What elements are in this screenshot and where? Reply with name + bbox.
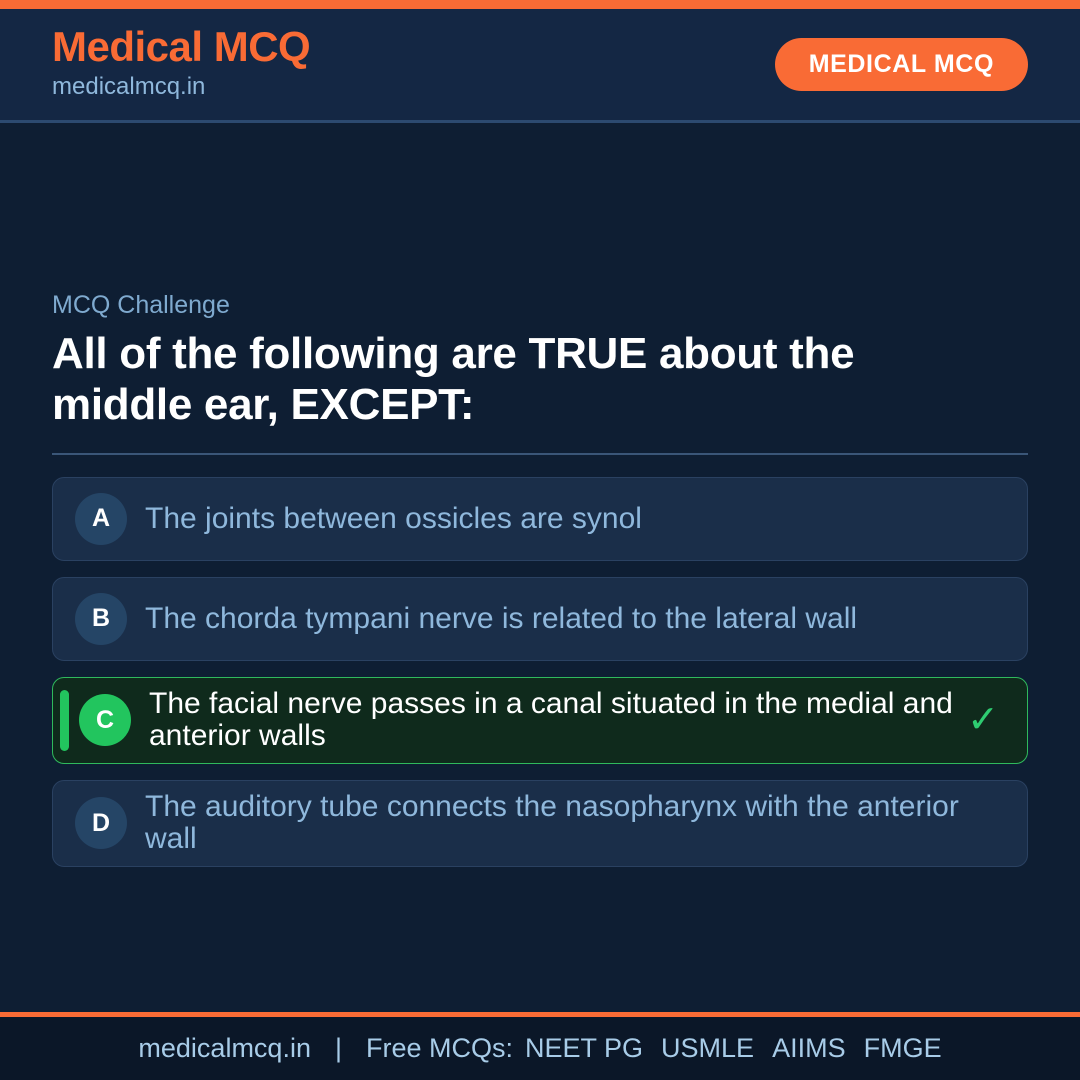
correct-accent-bar (60, 690, 69, 751)
footer-site-link[interactable]: medicalmcq.in (138, 1033, 311, 1064)
footer-label: Free MCQs: (366, 1033, 513, 1064)
main-content: MCQ Challenge All of the following are T… (0, 123, 1080, 1012)
option-letter-badge: B (75, 593, 127, 645)
option-text: The facial nerve passes in a canal situa… (149, 688, 961, 753)
option-c[interactable]: C The facial nerve passes in a canal sit… (52, 677, 1028, 764)
page-title: All of the following are TRUE about the … (52, 328, 952, 431)
option-a[interactable]: A The joints between ossicles are synol (52, 477, 1028, 561)
option-text: The joints between ossicles are synol (145, 503, 961, 535)
footer-exam-neet-pg[interactable]: NEET PG (525, 1033, 643, 1064)
brand-subtitle: medicalmcq.in (52, 71, 310, 102)
option-text: The chorda tympani nerve is related to t… (145, 603, 961, 635)
option-d[interactable]: D The auditory tube connects the nasopha… (52, 780, 1028, 867)
brand-block: Medical MCQ medicalmcq.in (52, 26, 310, 102)
page-footer: medicalmcq.in | Free MCQs: NEET PG USMLE… (0, 1012, 1080, 1080)
footer-content: medicalmcq.in | Free MCQs: NEET PG USMLE… (138, 1033, 941, 1064)
question-divider (52, 453, 1028, 455)
footer-exam-aiims[interactable]: AIIMS (772, 1033, 846, 1064)
option-text: The auditory tube connects the nasophary… (145, 791, 961, 856)
option-letter-badge: C (79, 694, 131, 746)
top-accent-bar (0, 0, 1080, 9)
eyebrow-label: MCQ Challenge (52, 290, 1028, 320)
footer-exam-list: NEET PG USMLE AIIMS FMGE (525, 1033, 942, 1064)
option-b[interactable]: B The chorda tympani nerve is related to… (52, 577, 1028, 661)
check-icon: ✓ (961, 701, 1005, 739)
options-list: A The joints between ossicles are synol … (52, 477, 1028, 867)
mcq-card: Medical MCQ medicalmcq.in MEDICAL MCQ MC… (0, 0, 1080, 1080)
footer-separator: | (335, 1033, 342, 1064)
footer-exam-usmle[interactable]: USMLE (661, 1033, 754, 1064)
option-letter-badge: A (75, 493, 127, 545)
brand-title: Medical MCQ (52, 26, 310, 69)
option-letter-badge: D (75, 797, 127, 849)
question-block: MCQ Challenge All of the following are T… (52, 290, 1028, 431)
footer-exam-fmge[interactable]: FMGE (864, 1033, 942, 1064)
header-badge[interactable]: MEDICAL MCQ (775, 38, 1028, 91)
page-header: Medical MCQ medicalmcq.in MEDICAL MCQ (0, 9, 1080, 123)
